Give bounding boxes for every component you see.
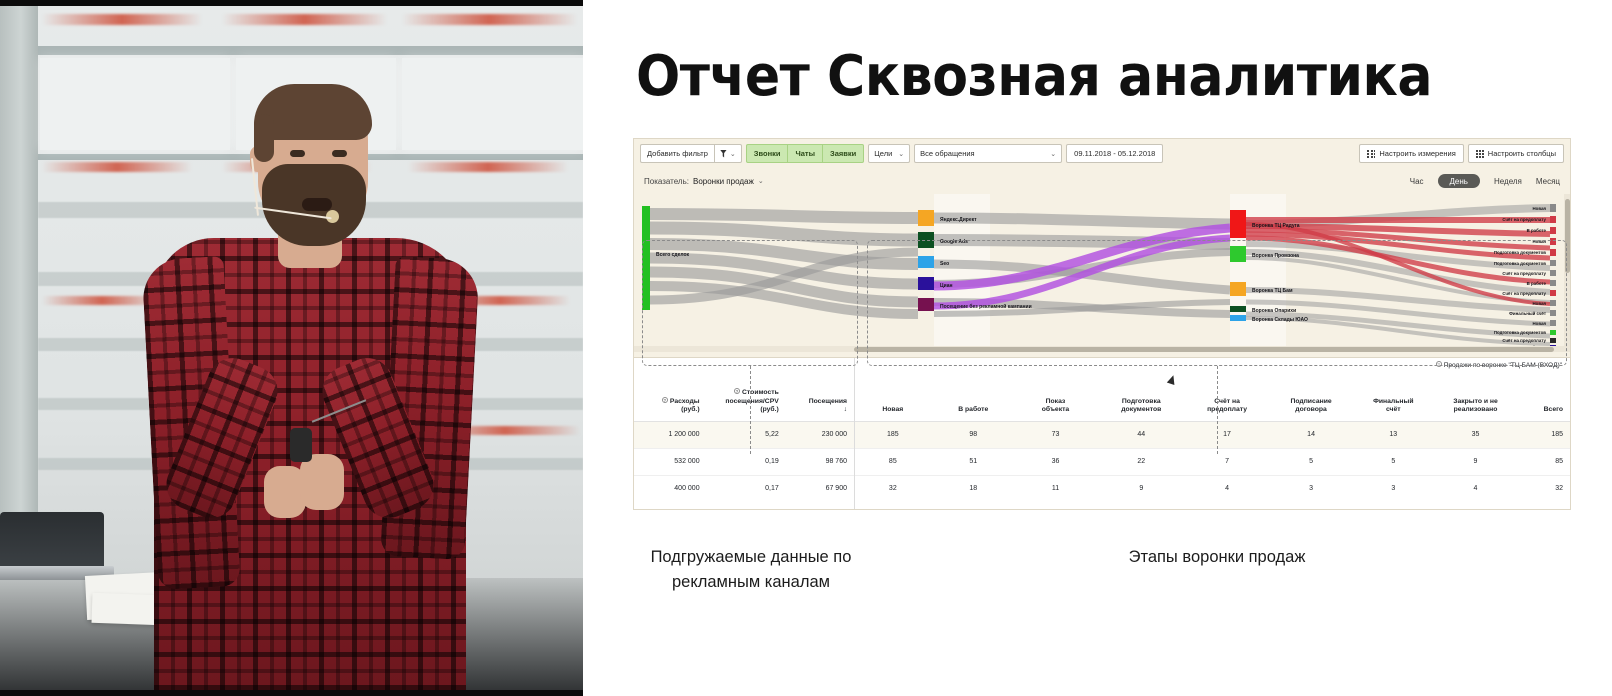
svg-text:Яндекс.Директ: Яндекс.Директ <box>940 217 977 223</box>
tag-chats-button[interactable]: Чаты <box>788 144 823 163</box>
col-cpv[interactable]: ?Стоимость посещения/CPV (руб.) <box>707 371 786 421</box>
col-total-l1: Всего <box>1544 406 1563 413</box>
col-in-progress-l1: В работе <box>938 406 1009 414</box>
col-final-invoice[interactable]: Финальный счёт <box>1355 371 1434 421</box>
cell-new: 32 <box>855 475 934 502</box>
wall-red-stripe-top-1 <box>42 14 202 25</box>
left-table-title-spacer <box>634 358 854 371</box>
cell-visits: 230 000 <box>786 421 854 448</box>
col-cpv-l2: посещения/CPV <box>725 398 778 405</box>
cell-docs-prep: 9 <box>1098 475 1187 502</box>
table-row[interactable]: 400 000 0,17 67 900 <box>634 475 854 502</box>
col-in-progress[interactable]: В работе <box>934 371 1016 421</box>
appeals-select[interactable]: Все обращения ⌄ <box>914 144 1062 163</box>
svg-text:Посещение без рекламной кампан: Посещение без рекламной кампании <box>940 303 1032 310</box>
configure-dimensions-label: Настроить измерения <box>1379 149 1455 158</box>
svg-text:Google Ads: Google Ads <box>940 239 968 245</box>
cell-prepay-invoice: 17 <box>1187 421 1269 448</box>
cell-in-progress: 51 <box>934 448 1016 475</box>
svg-text:Всего сделок: Всего сделок <box>656 252 690 258</box>
period-week[interactable]: Неделя <box>1494 177 1522 186</box>
chevron-down-icon: ⌄ <box>730 150 736 158</box>
col-final-invoice-l2: счёт <box>1359 406 1427 414</box>
speaker-figure <box>150 58 480 690</box>
goals-select[interactable]: Цели ⌄ <box>868 144 910 163</box>
svg-text:Воронка Опарихи: Воронка Опарихи <box>1252 308 1296 314</box>
tag-requests-button[interactable]: Заявки <box>823 144 864 163</box>
cell-final-invoice: 3 <box>1355 475 1434 502</box>
col-expenses[interactable]: ?Расходы (руб.) <box>634 371 707 421</box>
configure-dimensions-button[interactable]: Настроить измерения <box>1359 144 1463 163</box>
cell-total: 32 <box>1520 475 1570 502</box>
chevron-down-icon: ⌄ <box>758 177 764 185</box>
presentation-slide-frame: Отчет Сквозная аналитика Добавить фильтр… <box>0 0 1612 696</box>
table-header-row: ?Расходы (руб.) ?Стоимость посещения/CPV… <box>634 371 854 421</box>
cell-final-invoice: 5 <box>1355 448 1434 475</box>
svg-text:Воронка ТЦ Радуга: Воронка ТЦ Радуга <box>1252 223 1300 229</box>
cell-expenses: 400 000 <box>634 475 707 502</box>
wall-mullion-top <box>38 46 583 55</box>
cell-new: 85 <box>855 448 934 475</box>
cell-contract-sign: 14 <box>1270 421 1356 448</box>
grid-icon <box>1367 150 1375 158</box>
cell-total: 185 <box>1520 421 1570 448</box>
help-icon[interactable]: ? <box>1436 361 1442 367</box>
period-day[interactable]: День <box>1438 174 1480 188</box>
col-show-object-l2: объекта <box>1020 406 1091 414</box>
cell-in-progress: 98 <box>934 421 1016 448</box>
laptop-screen <box>0 512 104 568</box>
svg-text:В работе: В работе <box>1527 281 1547 286</box>
cell-new: 185 <box>855 421 934 448</box>
wall-red-stripe-top-2 <box>222 14 387 25</box>
speaker-mouth <box>302 198 332 211</box>
cell-visits: 67 900 <box>786 475 854 502</box>
svg-text:Подготовка документов: Подготовка документов <box>1494 250 1546 255</box>
configure-columns-button[interactable]: Настроить столбцы <box>1468 144 1564 163</box>
col-closed-lost-l1: Закрыто и не <box>1438 398 1513 406</box>
col-contract-sign-l1: Подписание <box>1274 398 1349 406</box>
cell-expenses: 1 200 000 <box>634 421 707 448</box>
speaker-video-panel <box>0 0 583 696</box>
cell-visits: 98 760 <box>786 448 854 475</box>
cell-cpv: 0,19 <box>707 448 786 475</box>
sankey-node-total-deals <box>642 206 650 310</box>
cell-closed-lost: 4 <box>1434 475 1520 502</box>
cell-expenses: 532 000 <box>634 448 707 475</box>
col-show-object[interactable]: Показ объекта <box>1016 371 1098 421</box>
funnel-stages-table-wrap: ?Продажи по воронке "ТЦ БАМ (ВХОД)" Нова… <box>855 358 1570 509</box>
col-expenses-l2: (руб.) <box>681 406 699 413</box>
cell-contract-sign: 3 <box>1270 475 1356 502</box>
metric-label: Показатель: <box>644 177 689 186</box>
wall-column-left <box>0 6 38 566</box>
svg-text:Воронка ТЦ Бам: Воронка ТЦ Бам <box>1252 288 1293 294</box>
cell-docs-prep: 44 <box>1098 421 1187 448</box>
period-switcher: Час День Неделя Месяц <box>1410 174 1560 188</box>
cell-in-progress: 18 <box>934 475 1016 502</box>
svg-text:Воронка Промзона: Воронка Промзона <box>1252 253 1299 259</box>
slide-content: Отчет Сквозная аналитика Добавить фильтр… <box>591 0 1612 696</box>
svg-text:Новая: Новая <box>1533 301 1547 306</box>
cell-cpv: 5,22 <box>707 421 786 448</box>
svg-text:Seo: Seo <box>940 261 949 267</box>
col-docs-prep-l1: Подготовка <box>1102 398 1180 406</box>
caption-ad-channels: Подгружаемые данные по рекламным каналам <box>619 545 883 595</box>
cell-closed-lost: 9 <box>1434 448 1520 475</box>
sankey-vertical-scrollbar-thumb[interactable] <box>1565 199 1570 273</box>
help-icon[interactable]: ? <box>662 397 668 403</box>
cell-docs-prep: 22 <box>1098 448 1187 475</box>
report-tables: ?Расходы (руб.) ?Стоимость посещения/CPV… <box>634 357 1570 509</box>
svg-text:Новая: Новая <box>1533 239 1547 244</box>
cell-show-object: 73 <box>1016 421 1098 448</box>
svg-text:В работе: В работе <box>1527 228 1547 233</box>
table-row[interactable]: 85 51 36 22 7 5 5 9 85 <box>855 448 1570 475</box>
goals-select-label: Цели <box>874 149 892 158</box>
chevron-down-icon: ⌄ <box>898 150 904 158</box>
help-icon[interactable]: ? <box>734 388 740 394</box>
report-toolbar: Добавить фильтр ⌄ Звонки Чаты Заявки Цел… <box>634 139 1570 168</box>
col-prepay-invoice-l2: предоплату <box>1191 406 1262 414</box>
analytics-report-screenshot: Добавить фильтр ⌄ Звонки Чаты Заявки Цел… <box>634 139 1570 509</box>
svg-text:Подготовка документов: Подготовка документов <box>1494 330 1546 335</box>
filter-icon-button[interactable]: ⌄ <box>714 144 742 163</box>
svg-text:Новая: Новая <box>1533 206 1547 211</box>
funnel-stages-table: Новая В работе Показ объекта <box>855 371 1570 502</box>
cell-prepay-invoice: 4 <box>1187 475 1269 502</box>
configure-columns-label: Настроить столбцы <box>1488 149 1556 158</box>
svg-text:Новая: Новая <box>1533 321 1547 326</box>
col-contract-sign-l2: договора <box>1274 406 1349 414</box>
col-show-object-l1: Показ <box>1020 398 1091 406</box>
report-subbar: Показатель: Воронки продаж ⌄ Час День Не… <box>634 168 1570 194</box>
cell-contract-sign: 5 <box>1270 448 1356 475</box>
sort-desc-icon[interactable]: ↓ <box>844 406 847 413</box>
period-hour[interactable]: Час <box>1410 177 1424 186</box>
cell-final-invoice: 13 <box>1355 421 1434 448</box>
ad-channels-table: ?Расходы (руб.) ?Стоимость посещения/CPV… <box>634 371 854 502</box>
table-row[interactable]: 532 000 0,19 98 760 <box>634 448 854 475</box>
cell-closed-lost: 35 <box>1434 421 1520 448</box>
funnel-table-title: ?Продажи по воронке "ТЦ БАМ (ВХОД)" <box>855 358 1570 371</box>
speaker-eye-right <box>332 150 347 157</box>
caption-funnel-stages: Этапы воронки продаж <box>1057 545 1377 570</box>
svg-text:Финальный счёт: Финальный счёт <box>1509 311 1547 316</box>
wall-red-stripe-top-3 <box>402 14 577 25</box>
speaker-hair-side <box>254 114 274 162</box>
sankey-horizontal-scrollbar-thumb[interactable] <box>854 347 1554 352</box>
col-cpv-l1: Стоимость <box>742 389 779 396</box>
cell-show-object: 36 <box>1016 448 1098 475</box>
cell-prepay-invoice: 7 <box>1187 448 1269 475</box>
table-header-row: Новая В работе Показ объекта <box>855 371 1570 421</box>
svg-text:Счёт на предоплату: Счёт на предоплату <box>1502 217 1546 222</box>
date-range-picker[interactable]: 09.11.2018 - 05.12.2018 <box>1066 144 1163 163</box>
period-month[interactable]: Месяц <box>1536 177 1560 186</box>
col-contract-sign[interactable]: Подписание договора <box>1270 371 1356 421</box>
cell-cpv: 0,17 <box>707 475 786 502</box>
table-row[interactable]: 185 98 73 44 17 14 13 35 185 <box>855 421 1570 448</box>
col-new[interactable]: Новая <box>855 371 934 421</box>
col-docs-prep-l2: документов <box>1102 406 1180 414</box>
funnel-icon <box>720 150 727 158</box>
cell-total: 85 <box>1520 448 1570 475</box>
svg-text:Циан: Циан <box>940 283 953 289</box>
table-row[interactable]: 1 200 000 5,22 230 000 <box>634 421 854 448</box>
svg-text:Подготовка документов: Подготовка документов <box>1494 261 1546 266</box>
appeals-select-label: Все обращения <box>920 149 974 158</box>
page-title: Отчет Сквозная аналитика <box>636 46 1432 108</box>
caption-ad-channels-l2: рекламным каналам <box>619 570 883 595</box>
col-final-invoice-l1: Финальный <box>1359 398 1427 406</box>
col-total[interactable]: Всего <box>1520 371 1570 421</box>
speaker-eye-left <box>290 150 305 157</box>
col-closed-lost[interactable]: Закрыто и не реализовано <box>1434 371 1520 421</box>
add-filter-button[interactable]: Добавить фильтр <box>640 144 714 163</box>
col-closed-lost-l2: реализовано <box>1438 406 1513 414</box>
funnel-table-title-text: Продажи по воронке "ТЦ БАМ (ВХОД)" <box>1444 362 1562 369</box>
leader-line-left <box>750 366 751 454</box>
metric-select[interactable]: Воронки продаж <box>693 177 754 186</box>
grid-icon <box>1476 150 1484 158</box>
svg-text:Счёт на предоплату: Счёт на предоплату <box>1502 271 1546 276</box>
col-prepay-invoice-l1: Счёт на <box>1191 398 1262 406</box>
video-frame <box>0 6 583 690</box>
chevron-down-icon: ⌄ <box>1050 150 1056 158</box>
leader-line-right <box>1217 366 1218 454</box>
caption-ad-channels-l1: Подгружаемые данные по <box>619 545 883 570</box>
sankey-diagram: Всего сделок Яндекс.Директ Google Ads Se… <box>634 194 1570 352</box>
col-prepay-invoice[interactable]: Счёт на предоплату <box>1187 371 1269 421</box>
presenter-clicker <box>290 428 312 462</box>
speaker-hand-right <box>300 454 344 510</box>
tag-calls-button[interactable]: Звонки <box>746 144 789 163</box>
cell-show-object: 11 <box>1016 475 1098 502</box>
svg-text:Счёт на предоплату: Счёт на предоплату <box>1502 291 1546 296</box>
col-visits-l1: Посещения <box>809 398 847 405</box>
ad-channels-table-wrap: ?Расходы (руб.) ?Стоимость посещения/CPV… <box>634 358 855 509</box>
col-visits[interactable]: Посещения ↓ <box>786 371 854 421</box>
svg-text:Воронка Склады ЮАО: Воронка Склады ЮАО <box>1252 317 1308 323</box>
svg-text:Счёт на предоплату: Счёт на предоплату <box>1502 338 1546 343</box>
col-expenses-l1: Расходы <box>670 398 700 405</box>
table-row[interactable]: 32 18 11 9 4 3 3 4 32 <box>855 475 1570 502</box>
col-cpv-l3: (руб.) <box>760 406 778 413</box>
col-new-l1: Новая <box>859 406 927 414</box>
